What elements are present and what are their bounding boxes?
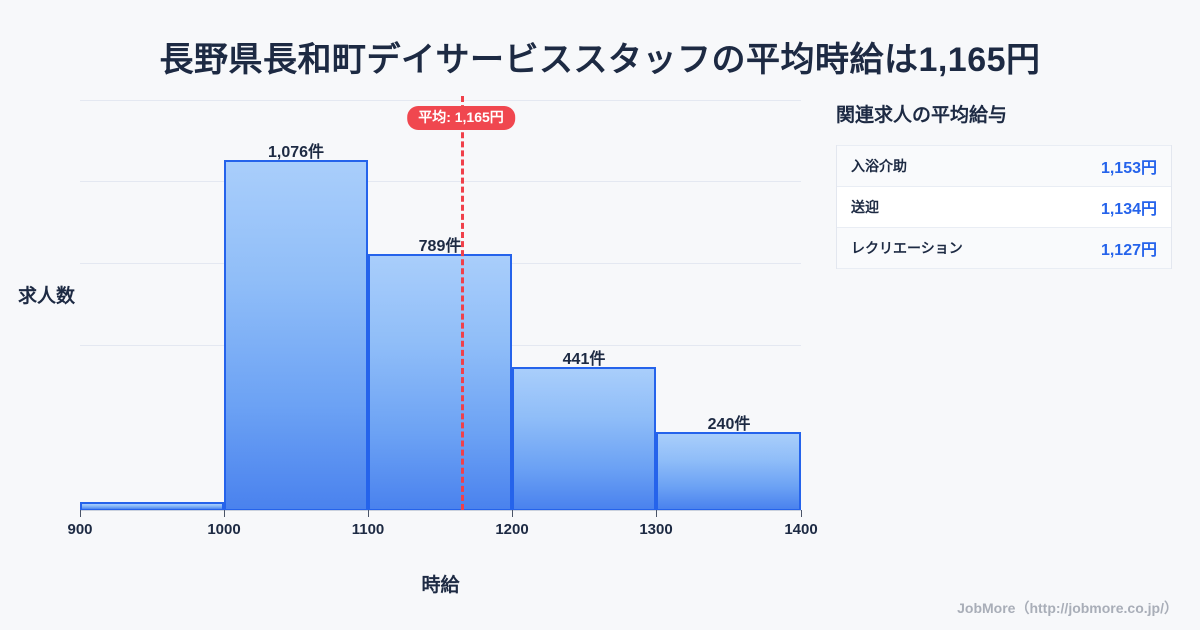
x-tick-label: 900 [67,521,92,538]
x-tick-label: 1100 [352,521,385,538]
table-row[interactable]: 入浴介助 1,153円 [837,145,1171,187]
histogram-bar-1200-1300[interactable] [512,367,656,511]
y-axis-title: 求人数 [18,281,75,308]
x-tick-mark [80,510,81,517]
table-row-label: 入浴介助 [851,156,907,176]
x-tick-mark [801,510,802,517]
table-row-value: 1,134円 [1101,195,1157,219]
chart-page: 長野県長和町デイサービススタッフの平均時給は1,165円 1,076件 789件… [0,0,1200,630]
x-tick-label: 1200 [495,521,528,538]
x-tick-mark [656,510,657,517]
table-row[interactable]: 送迎 1,134円 [837,187,1171,228]
bar-value-label: 240件 [708,410,751,434]
bar-value-label: 789件 [419,232,462,256]
gridline [80,100,801,101]
x-tick-mark [512,510,513,517]
related-salary-title: 関連求人の平均給与 [836,100,1172,127]
histogram-bar-1300-1400[interactable] [656,432,801,511]
gridline [80,181,801,182]
bar-value-label: 441件 [563,345,606,369]
table-row[interactable]: レクリエーション 1,127円 [837,228,1171,269]
mean-line [461,96,464,510]
mean-badge: 平均: 1,165円 [407,106,515,130]
x-axis-line [80,510,801,511]
bar-value-label: 1,076件 [268,138,324,162]
x-tick-label: 1000 [207,521,240,538]
x-tick-mark [368,510,369,517]
x-tick-mark [224,510,225,517]
footer-credit: JobMore（http://jobmore.co.jp/） [957,598,1178,618]
histogram-bar-1100-1200[interactable] [368,254,512,511]
table-row-value: 1,127円 [1101,236,1157,260]
table-row-label: レクリエーション [851,238,963,258]
page-title: 長野県長和町デイサービススタッフの平均時給は1,165円 [0,32,1200,81]
related-salary-panel: 関連求人の平均給与 入浴介助 1,153円 送迎 1,134円 レクリエーション… [836,100,1172,269]
x-tick-label: 1300 [639,521,672,538]
x-tick-label: 1400 [784,521,817,538]
related-salary-table: 入浴介助 1,153円 送迎 1,134円 レクリエーション 1,127円 [836,145,1172,269]
table-row-label: 送迎 [851,197,879,217]
x-axis-title: 時給 [0,570,881,597]
table-row-value: 1,153円 [1101,154,1157,178]
histogram-bar-1000-1100[interactable] [224,160,368,511]
